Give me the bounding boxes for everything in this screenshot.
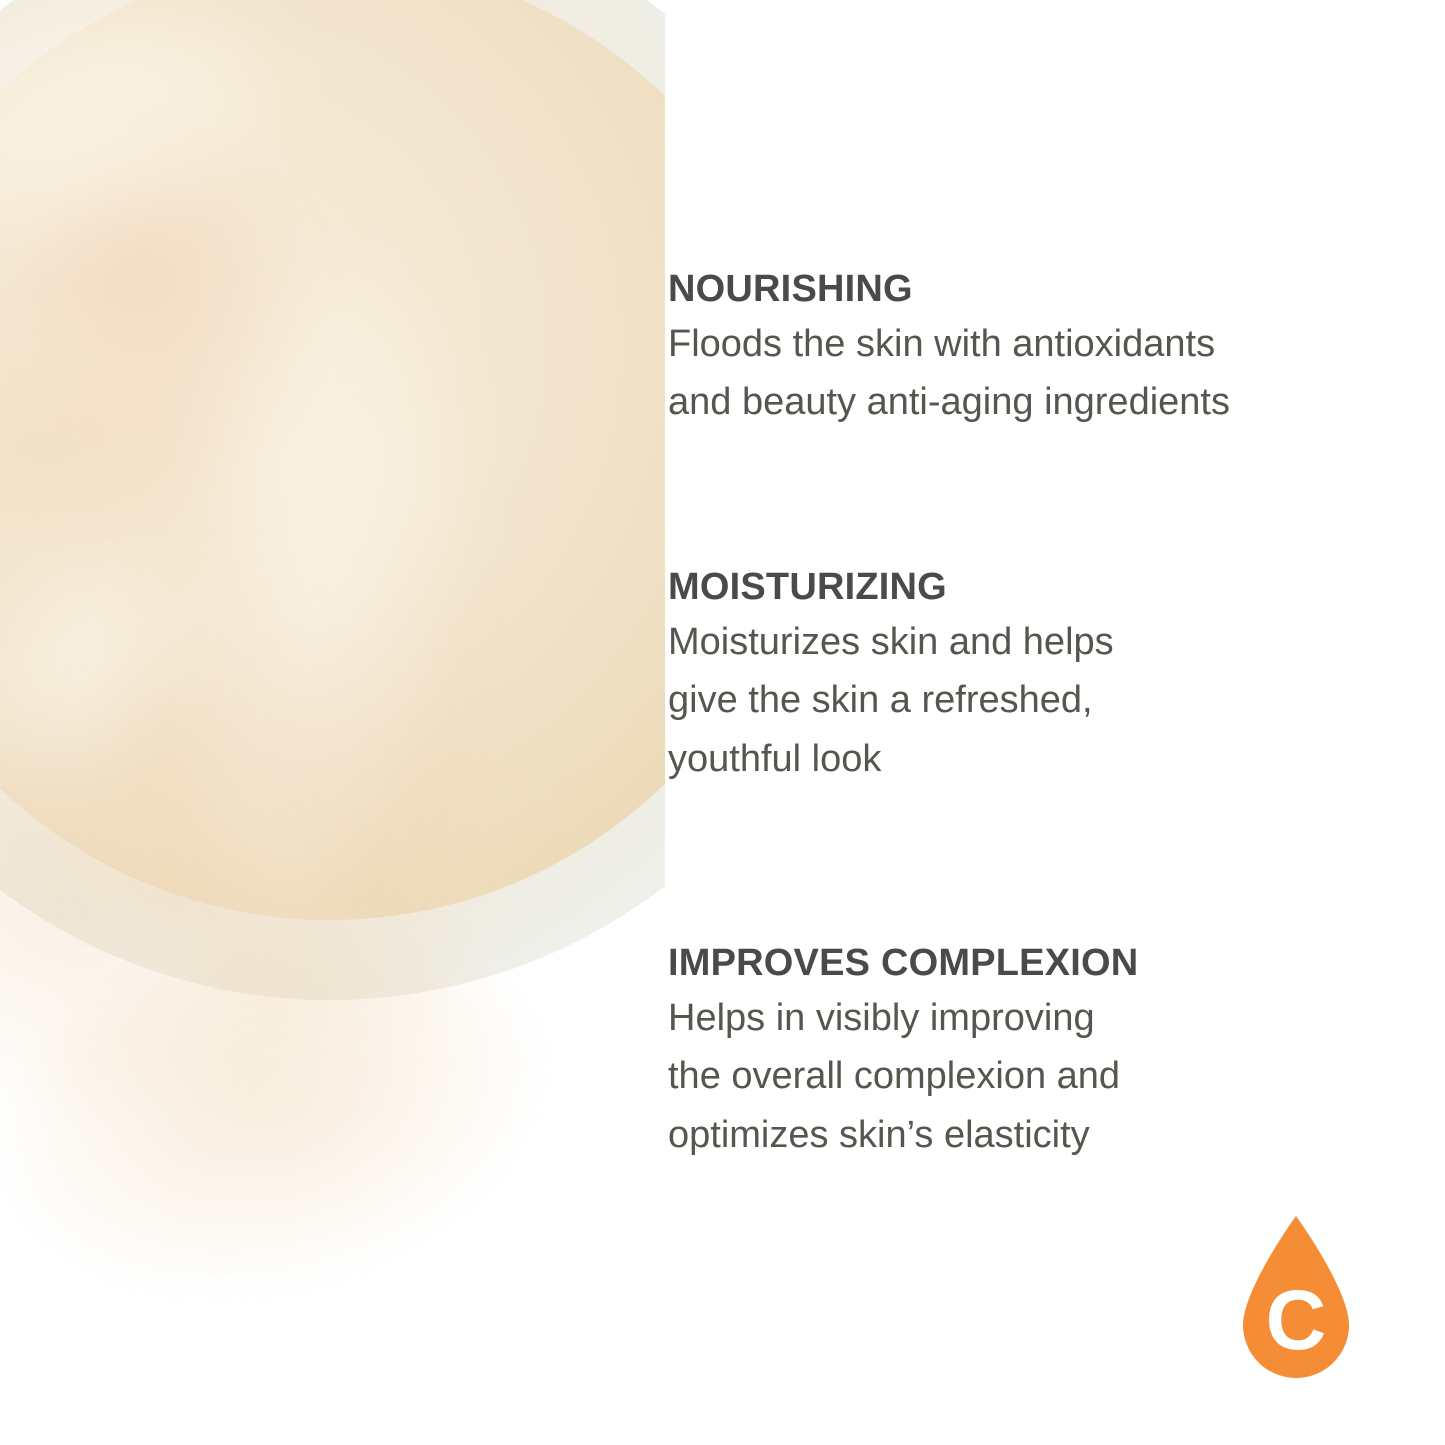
vitamin-c-droplet-icon: C [1243, 1216, 1349, 1378]
benefit-title: NOURISHING [668, 268, 1368, 311]
benefit-description: Moisturizes skin and helps give the skin… [668, 613, 1368, 790]
benefit-description: Helps in visibly improving the overall c… [668, 989, 1368, 1166]
marketing-image-canvas: NOURISHING Floods the skin with antioxid… [0, 0, 1445, 1445]
benefit-title: IMPROVES COMPLEXION [668, 942, 1368, 985]
benefit-item-nourishing: NOURISHING Floods the skin with antioxid… [668, 268, 1368, 432]
benefit-item-improves-complexion: IMPROVES COMPLEXION Helps in visibly imp… [668, 942, 1368, 1165]
droplet-letter: C [1266, 1273, 1327, 1367]
benefit-title: MOISTURIZING [668, 566, 1368, 609]
jar-cream-surface [0, 0, 665, 920]
benefit-description: Floods the skin with antioxidants and be… [668, 315, 1368, 433]
product-photo-cream-jar [0, 0, 665, 1445]
benefit-item-moisturizing: MOISTURIZING Moisturizes skin and helps … [668, 566, 1368, 789]
